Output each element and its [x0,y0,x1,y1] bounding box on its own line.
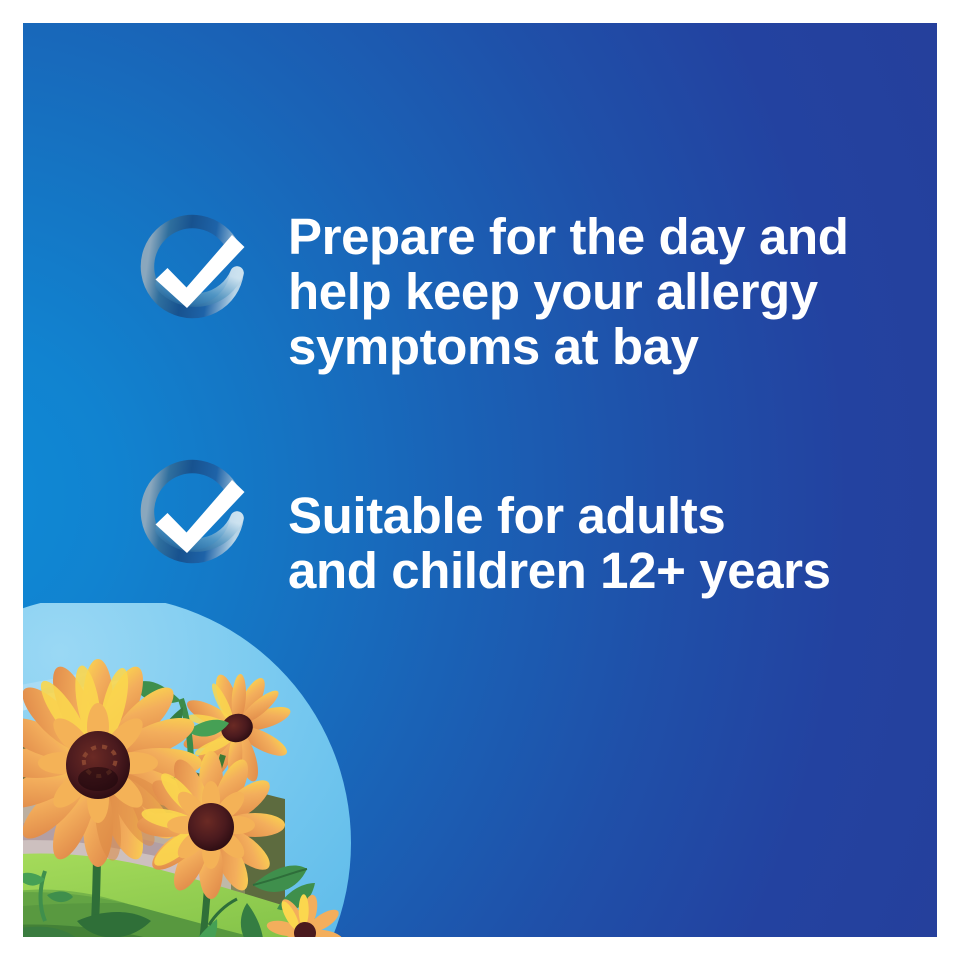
check-circle-icon [140,211,252,323]
sunflower-meadow-illustration [23,603,355,937]
bullet-item-1: Prepare for the day and help keep your a… [140,203,848,374]
bullet-text-2: Suitable for adults and children 12+ yea… [252,448,831,598]
bullet-text-1: Prepare for the day and help keep your a… [252,203,848,374]
bullet-item-2: Suitable for adults and children 12+ yea… [140,448,831,598]
promo-card: Prepare for the day and help keep your a… [23,23,937,937]
check-circle-icon [140,456,252,568]
